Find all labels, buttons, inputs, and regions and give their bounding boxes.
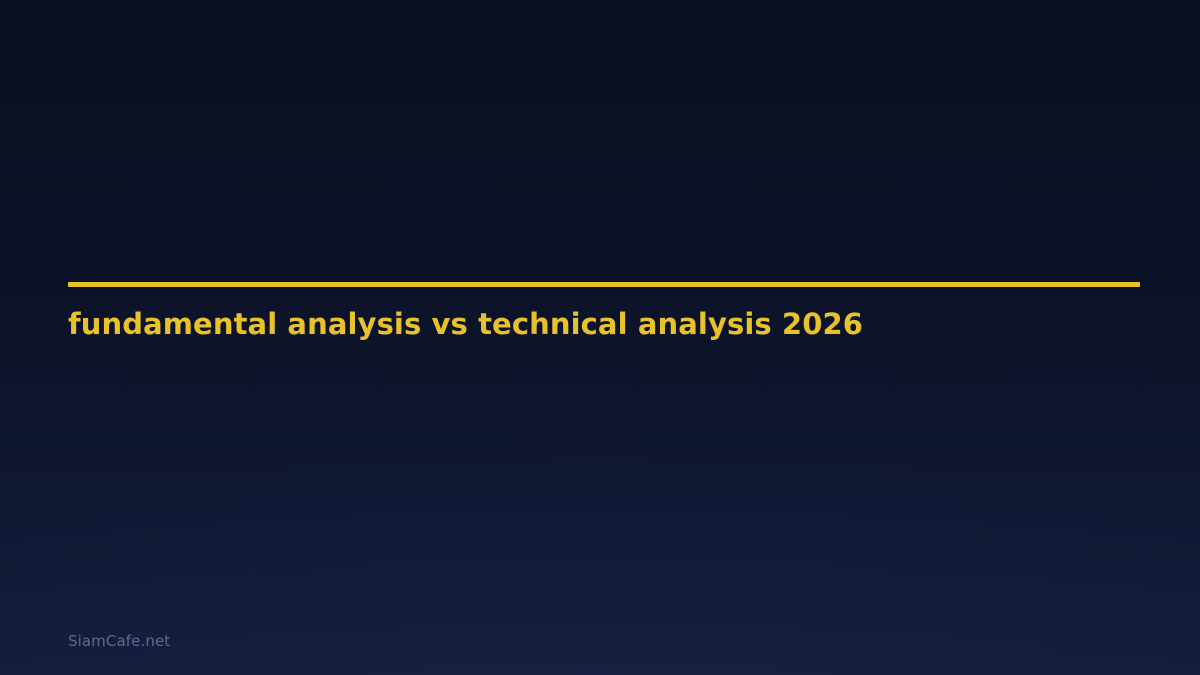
headline-block: fundamental analysis vs technical analys…: [68, 282, 1140, 341]
site-footer: SiamCafe.net: [68, 631, 170, 651]
footer-attribution: SiamCafe.net: [68, 632, 170, 650]
page-title: fundamental analysis vs technical analys…: [68, 287, 1140, 341]
page-canvas: fundamental analysis vs technical analys…: [0, 0, 1200, 675]
